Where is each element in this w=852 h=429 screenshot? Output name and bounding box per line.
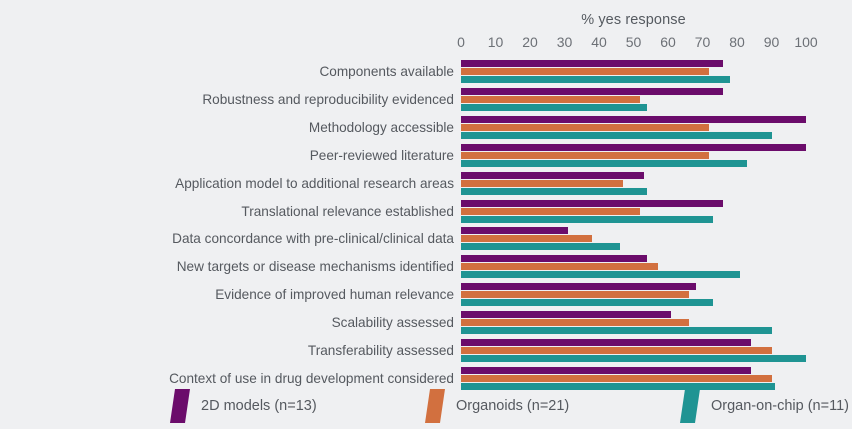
chart-row: New targets or disease mechanisms identi… [0, 253, 852, 281]
horizontal-bar-chart: % yes response 0102030405060708090100 Co… [0, 0, 852, 429]
parallelogram-swatch [425, 389, 445, 423]
x-tick-label: 30 [557, 34, 573, 50]
bar-group [461, 281, 852, 309]
bar-2 [461, 104, 647, 111]
bar-0 [461, 60, 723, 67]
bar-1 [461, 68, 709, 75]
chart-row: Methodology accessible [0, 114, 852, 142]
bar-group [461, 253, 852, 281]
bar-2 [461, 132, 772, 139]
parallelogram-swatch [680, 389, 700, 423]
legend-label: Organ-on-chip (n=11) [711, 398, 849, 414]
category-label: Robustness and reproducibility evidenced [202, 86, 454, 114]
bar-group [461, 225, 852, 253]
bar-0 [461, 339, 751, 346]
x-tick-label: 60 [660, 34, 676, 50]
chart-row: Evidence of improved human relevance [0, 281, 852, 309]
category-label: Application model to additional research… [175, 170, 454, 198]
bar-0 [461, 227, 568, 234]
bar-2 [461, 243, 620, 250]
bar-0 [461, 172, 644, 179]
legend-item[interactable]: 2D models (n=13) [170, 382, 317, 429]
bar-group [461, 337, 852, 365]
bar-1 [461, 263, 658, 270]
x-tick-label: 40 [591, 34, 607, 50]
plot-area: Components availableRobustness and repro… [0, 58, 852, 374]
x-tick-label: 0 [457, 34, 465, 50]
bar-2 [461, 355, 806, 362]
legend-label: 2D models (n=13) [201, 398, 317, 414]
bar-2 [461, 216, 713, 223]
chart-legend: 2D models (n=13)Organoids (n=21)Organ-on… [0, 382, 852, 429]
bar-1 [461, 208, 640, 215]
bar-2 [461, 188, 647, 195]
chart-row: Scalability assessed [0, 309, 852, 337]
bar-1 [461, 180, 623, 187]
bar-group [461, 86, 852, 114]
bar-2 [461, 299, 713, 306]
category-label: Evidence of improved human relevance [215, 281, 454, 309]
bar-group [461, 114, 852, 142]
category-label: Scalability assessed [332, 309, 454, 337]
bar-group [461, 309, 852, 337]
bar-group [461, 170, 852, 198]
x-tick-label: 20 [522, 34, 538, 50]
bar-group [461, 142, 852, 170]
bar-0 [461, 311, 671, 318]
bar-1 [461, 96, 640, 103]
x-axis-ticks: 0102030405060708090100 [461, 34, 806, 54]
x-tick-label: 80 [729, 34, 745, 50]
bar-2 [461, 327, 772, 334]
legend-item[interactable]: Organoids (n=21) [425, 382, 569, 429]
bar-2 [461, 271, 740, 278]
bar-1 [461, 375, 772, 382]
bar-0 [461, 144, 806, 151]
chart-row: Application model to additional research… [0, 170, 852, 198]
bar-0 [461, 255, 647, 262]
category-label: Translational relevance established [241, 198, 454, 226]
x-tick-label: 50 [626, 34, 642, 50]
category-label: Data concordance with pre-clinical/clini… [172, 225, 454, 253]
bar-group [461, 58, 852, 86]
chart-row: Transferability assessed [0, 337, 852, 365]
bar-0 [461, 116, 806, 123]
bar-0 [461, 367, 751, 374]
category-label: Transferability assessed [308, 337, 454, 365]
legend-item[interactable]: Organ-on-chip (n=11) [680, 382, 849, 429]
bar-0 [461, 200, 723, 207]
chart-row: Data concordance with pre-clinical/clini… [0, 225, 852, 253]
category-label: Methodology accessible [309, 114, 454, 142]
bar-2 [461, 76, 730, 83]
bar-0 [461, 88, 723, 95]
category-label: Peer-reviewed literature [310, 142, 454, 170]
bar-1 [461, 347, 772, 354]
x-tick-label: 100 [794, 34, 817, 50]
bar-1 [461, 291, 689, 298]
chart-row: Components available [0, 58, 852, 86]
bar-group [461, 198, 852, 226]
bar-1 [461, 235, 592, 242]
bar-2 [461, 160, 747, 167]
bar-1 [461, 319, 689, 326]
chart-row: Translational relevance established [0, 198, 852, 226]
chart-row: Peer-reviewed literature [0, 142, 852, 170]
x-tick-label: 90 [764, 34, 780, 50]
bar-0 [461, 283, 696, 290]
chart-row: Robustness and reproducibility evidenced [0, 86, 852, 114]
category-label: New targets or disease mechanisms identi… [177, 253, 454, 281]
category-label: Components available [319, 58, 454, 86]
parallelogram-swatch [170, 389, 190, 423]
x-tick-label: 70 [695, 34, 711, 50]
bar-1 [461, 152, 709, 159]
chart-title: % yes response [461, 12, 806, 28]
x-tick-label: 10 [488, 34, 504, 50]
bar-1 [461, 124, 709, 131]
legend-label: Organoids (n=21) [456, 398, 569, 414]
